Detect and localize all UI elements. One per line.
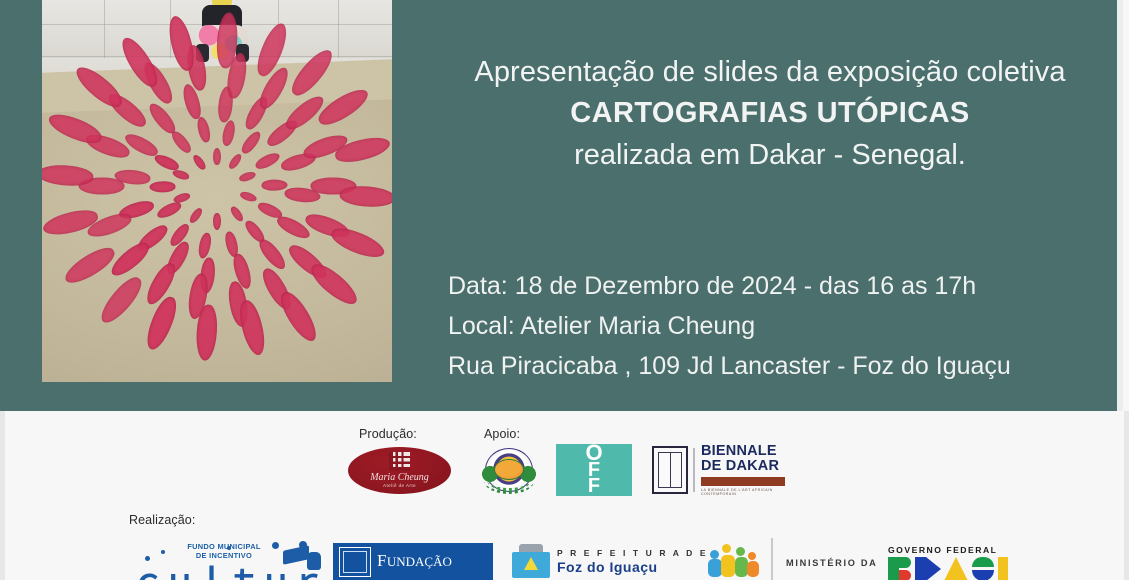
brasil-mark [972,557,994,567]
event-address: Rua Piracicaba , 109 Jd Lancaster - Foz … [448,346,1108,386]
kid-dot [736,547,745,556]
poster-canvas: Apresentação de slides da exposição cole… [0,0,1129,580]
headline-line-3: realizada em Dakar - Senegal. [420,134,1120,176]
kid-dot [748,552,756,560]
sandal [213,213,221,230]
hero-headline-block: Apresentação de slides da exposição cole… [420,52,1120,176]
brasil-mark [899,570,911,580]
brasil-mark [926,557,941,580]
off-letter-f2: F [588,477,600,495]
footer-right-edge [1124,411,1129,580]
apoio-label: Apoio: [484,427,520,441]
biennale-divider [693,448,695,492]
biennale-de-dakar-logo[interactable]: BIENNALE DE DAKAR LA BIENNALE DE L'ART A… [652,444,786,496]
senegal-seal-icon[interactable] [483,446,535,494]
footer-left-edge [0,411,5,580]
footer-vertical-divider [771,538,773,580]
sandal [213,148,221,165]
sandal [261,179,287,190]
event-details-block: Data: 18 de Dezembro de 2024 - das 16 as… [448,266,1108,386]
exhibition-photo [42,0,392,382]
fundo-dot [161,550,165,554]
maria-cheung-name: Maria Cheung [370,472,429,483]
prefeitura-line-1: P R E F E I T U R A D E [557,548,708,558]
event-venue: Local: Atelier Maria Cheung [448,306,1108,346]
brasil-mark [899,557,911,568]
governo-federal-label: GOVERNO FEDERAL [888,545,1008,555]
biennale-rust-bar [701,477,785,486]
biennale-text: BIENNALE DE DAKAR LA BIENNALE DE L'ART A… [701,444,786,496]
fundacao-word-rest: UNDAÇÃO [387,554,452,569]
brasil-mark [944,557,968,580]
kid-dot [710,550,719,559]
brasil-mark [998,557,1008,580]
fundacao-cultural-logo[interactable]: FUNDAÇÃO [333,543,493,580]
fundacao-word: F [377,551,387,570]
maria-cheung-mark-icon [389,452,410,471]
prefeitura-brasao-icon [512,544,550,578]
maria-cheung-logo[interactable]: Maria Cheung Ateliê de Arte [348,447,451,494]
prefeitura-text: P R E F E I T U R A D E Foz do Iguaçu [557,548,708,575]
biennale-line-2: DE DAKAR [701,459,786,474]
brasao-triangle [524,557,538,570]
brasil-mark [915,557,926,580]
seal-wreath-inner [487,469,531,491]
fundo-municipal-logo[interactable]: FUNDO MUNICIPAL DE INCENTIVO ｃｕｌｔｕｒａ [131,540,321,580]
foz-pessoas-icon [706,544,762,580]
headline-line-1: Apresentação de slides da exposição cole… [420,52,1120,92]
brasil-mark [888,557,899,580]
fundo-dot [145,556,150,561]
sandal [149,181,175,192]
prefeitura-line-2: Foz do Iguaçu [557,559,708,575]
kid-body [708,559,722,577]
brasil-wordmark-icon [888,557,1018,580]
producao-label: Produção: [359,427,417,441]
fundacao-crest-icon [339,547,371,577]
kid-body [747,561,759,577]
headline-title: CARTOGRAFIAS UTÓPICAS [420,92,1120,134]
ministerio-da-cultura-label: MINISTÉRIO DA [786,558,878,568]
fundo-hand-icon [307,552,321,570]
kid-dot [722,544,731,553]
event-date: Data: 18 de Dezembro de 2024 - das 16 as… [448,266,1108,306]
biennale-line-1: BIENNALE [701,444,786,459]
off-biennale-logo[interactable]: O F F [556,444,632,496]
fundacao-text: FUNDAÇÃO [377,552,452,571]
maria-cheung-subtitle: Ateliê de Arte [383,483,416,489]
biennale-tagline: LA BIENNALE DE L'ART AFRICAIN CONTEMPORA… [701,488,786,496]
biennale-gate-icon [652,446,688,494]
fundo-dot [272,542,279,549]
kid-body [721,555,735,577]
brasil-mark [972,570,994,580]
governo-federal-logo[interactable]: GOVERNO FEDERAL [888,545,1008,580]
prefeitura-foz-logo[interactable]: P R E F E I T U R A D E Foz do Iguaçu [512,542,712,580]
fundo-dot [227,546,231,550]
realizacao-label: Realização: [129,513,195,527]
